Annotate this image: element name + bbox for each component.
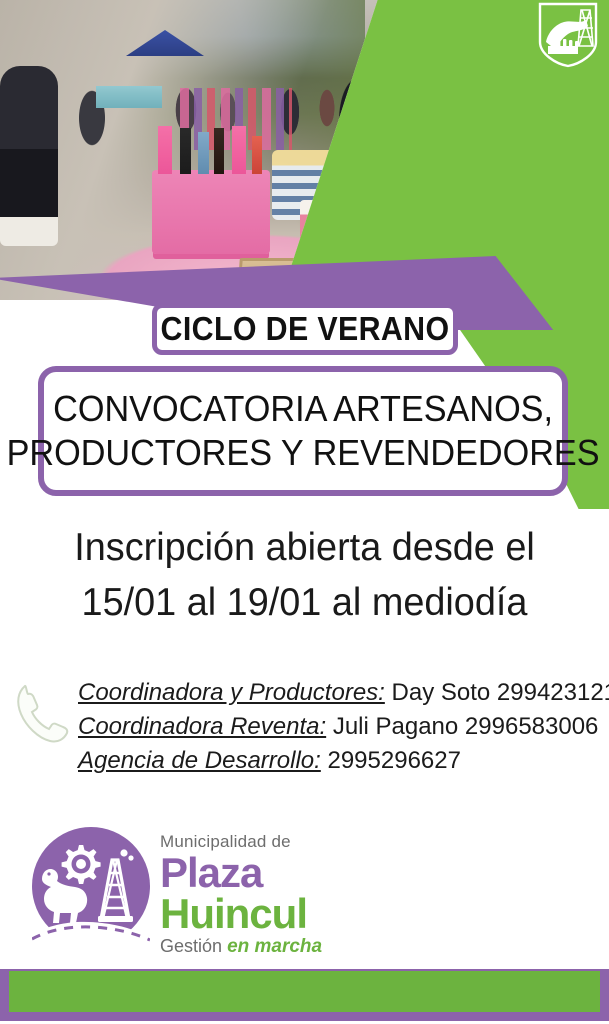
- contact-row: Agencia de Desarrollo: 2995296627: [78, 744, 598, 778]
- municipality-emblem-icon: [32, 827, 150, 945]
- logo-huincul-label: Huincul: [160, 893, 440, 934]
- badge-convocatoria: CONVOCATORIA ARTESANOS, PRODUCTORES Y RE…: [38, 366, 568, 496]
- photo-blue-gazebo: [126, 30, 204, 56]
- contact-row: Coordinadora y Productores: Day Soto 299…: [78, 676, 598, 710]
- bottom-green-bar: [0, 969, 609, 1021]
- logo-municipalidad-label: Municipalidad de: [160, 833, 440, 850]
- badge-ciclo-label: CICLO DE VERANO: [161, 310, 450, 348]
- contact-value: Day Soto 2994231215: [392, 679, 609, 706]
- phone-handset-icon: [12, 678, 74, 750]
- contact-role-label: Coordinadora y Productores:: [78, 679, 385, 706]
- municipality-logo-text: Municipalidad de Plaza Huincul Gestión e…: [160, 833, 440, 956]
- logo-slogan-accent: en marcha: [227, 936, 322, 957]
- photo-person-foreground: [0, 66, 58, 246]
- photo-stall-table: [96, 86, 162, 108]
- logo-plaza-label: Plaza: [160, 852, 440, 893]
- contact-row: Coordinadora Reventa: Juli Pagano 299658…: [78, 710, 598, 744]
- inscription-line-1: Inscripción abierta desde el: [9, 520, 600, 575]
- contact-value: 2995296627: [327, 747, 460, 774]
- inscription-dates: Inscripción abierta desde el 15/01 al 19…: [9, 520, 600, 631]
- contact-role-label: Coordinadora Reventa:: [78, 713, 326, 740]
- logo-slogan: Gestión en marcha: [160, 937, 440, 956]
- photo-pink-bottle-rack: [152, 170, 270, 254]
- badge-ciclo-de-verano: CICLO DE VERANO: [152, 303, 458, 355]
- contact-role-label: Agencia de Desarrollo:: [78, 747, 321, 774]
- coat-of-arms-icon: [534, 2, 602, 68]
- badge-convocatoria-line-2: PRODUCTORES Y REVENDEDORES: [7, 431, 600, 475]
- logo-slogan-prefix: Gestión: [160, 936, 222, 956]
- badge-convocatoria-line-1: CONVOCATORIA ARTESANOS,: [53, 387, 553, 431]
- poster-canvas: CICLO DE VERANO CONVOCATORIA ARTESANOS, …: [0, 0, 609, 1024]
- inscription-line-2: 15/01 al 19/01 al mediodía: [9, 575, 600, 630]
- contact-list: Coordinadora y Productores: Day Soto 299…: [78, 676, 598, 778]
- contact-value: Juli Pagano 2996583006: [333, 713, 599, 740]
